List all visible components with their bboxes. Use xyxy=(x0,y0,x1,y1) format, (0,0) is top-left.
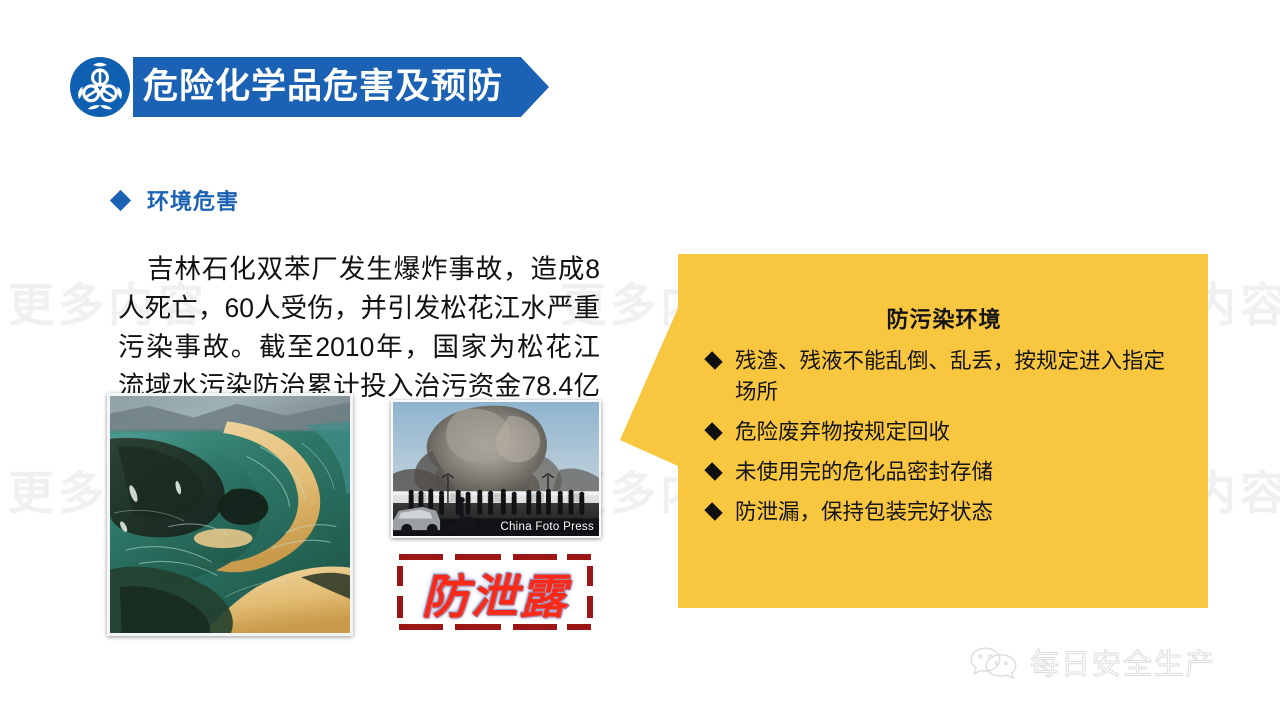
list-item-label: 残渣、残液不能乱倒、乱丢，按规定进入指定场所 xyxy=(735,346,1182,408)
header-banner: 危险化学品危害及预防 xyxy=(133,57,549,117)
explosion-photo: China Foto Press xyxy=(391,400,601,538)
diamond-bullet-icon xyxy=(704,422,722,440)
page-title: 危险化学品危害及预防 xyxy=(133,57,549,117)
callout-list: 残渣、残液不能乱倒、乱丢，按规定进入指定场所 危险废弃物按规定回收 未使用完的危… xyxy=(706,346,1182,528)
diamond-bullet-icon xyxy=(704,502,722,520)
list-item-label: 防泄漏，保持包装完好状态 xyxy=(735,497,1182,528)
slide-header: 危险化学品危害及预防 xyxy=(70,57,549,117)
list-item-label: 未使用完的危化品密封存储 xyxy=(735,457,1182,488)
callout-panel: 防污染环境 残渣、残液不能乱倒、乱丢，按规定进入指定场所 危险废弃物按规定回收 … xyxy=(620,254,1208,608)
list-item: 危险废弃物按规定回收 xyxy=(706,417,1182,448)
list-item: 残渣、残液不能乱倒、乱丢，按规定进入指定场所 xyxy=(706,346,1182,408)
diamond-bullet-icon xyxy=(110,189,131,210)
wechat-watermark-label: 每日安全生产 xyxy=(1030,651,1216,680)
wechat-icon xyxy=(968,645,1020,686)
status-badge-label: 防泄露 xyxy=(393,552,597,632)
photo-credit: China Foto Press xyxy=(500,521,594,533)
section-subtitle: 环境危害 xyxy=(113,184,239,216)
slide-canvas: 更多内容 更多内容 更多内容 更多内容 更多内容 更多内容 xyxy=(0,0,1280,720)
callout-heading: 防污染环境 xyxy=(706,302,1182,334)
list-item: 未使用完的危化品密封存储 xyxy=(706,457,1182,488)
diamond-bullet-icon xyxy=(704,351,722,369)
biohazard-icon xyxy=(70,57,130,117)
wechat-watermark: 每日安全生产 xyxy=(968,645,1216,686)
list-item: 防泄漏，保持包装完好状态 xyxy=(706,497,1182,528)
polluted-river-photo xyxy=(107,393,353,636)
list-item-label: 危险废弃物按规定回收 xyxy=(735,417,1182,448)
diamond-bullet-icon xyxy=(704,462,722,480)
section-subtitle-label: 环境危害 xyxy=(147,184,239,216)
status-badge: 防泄露 xyxy=(393,552,597,632)
